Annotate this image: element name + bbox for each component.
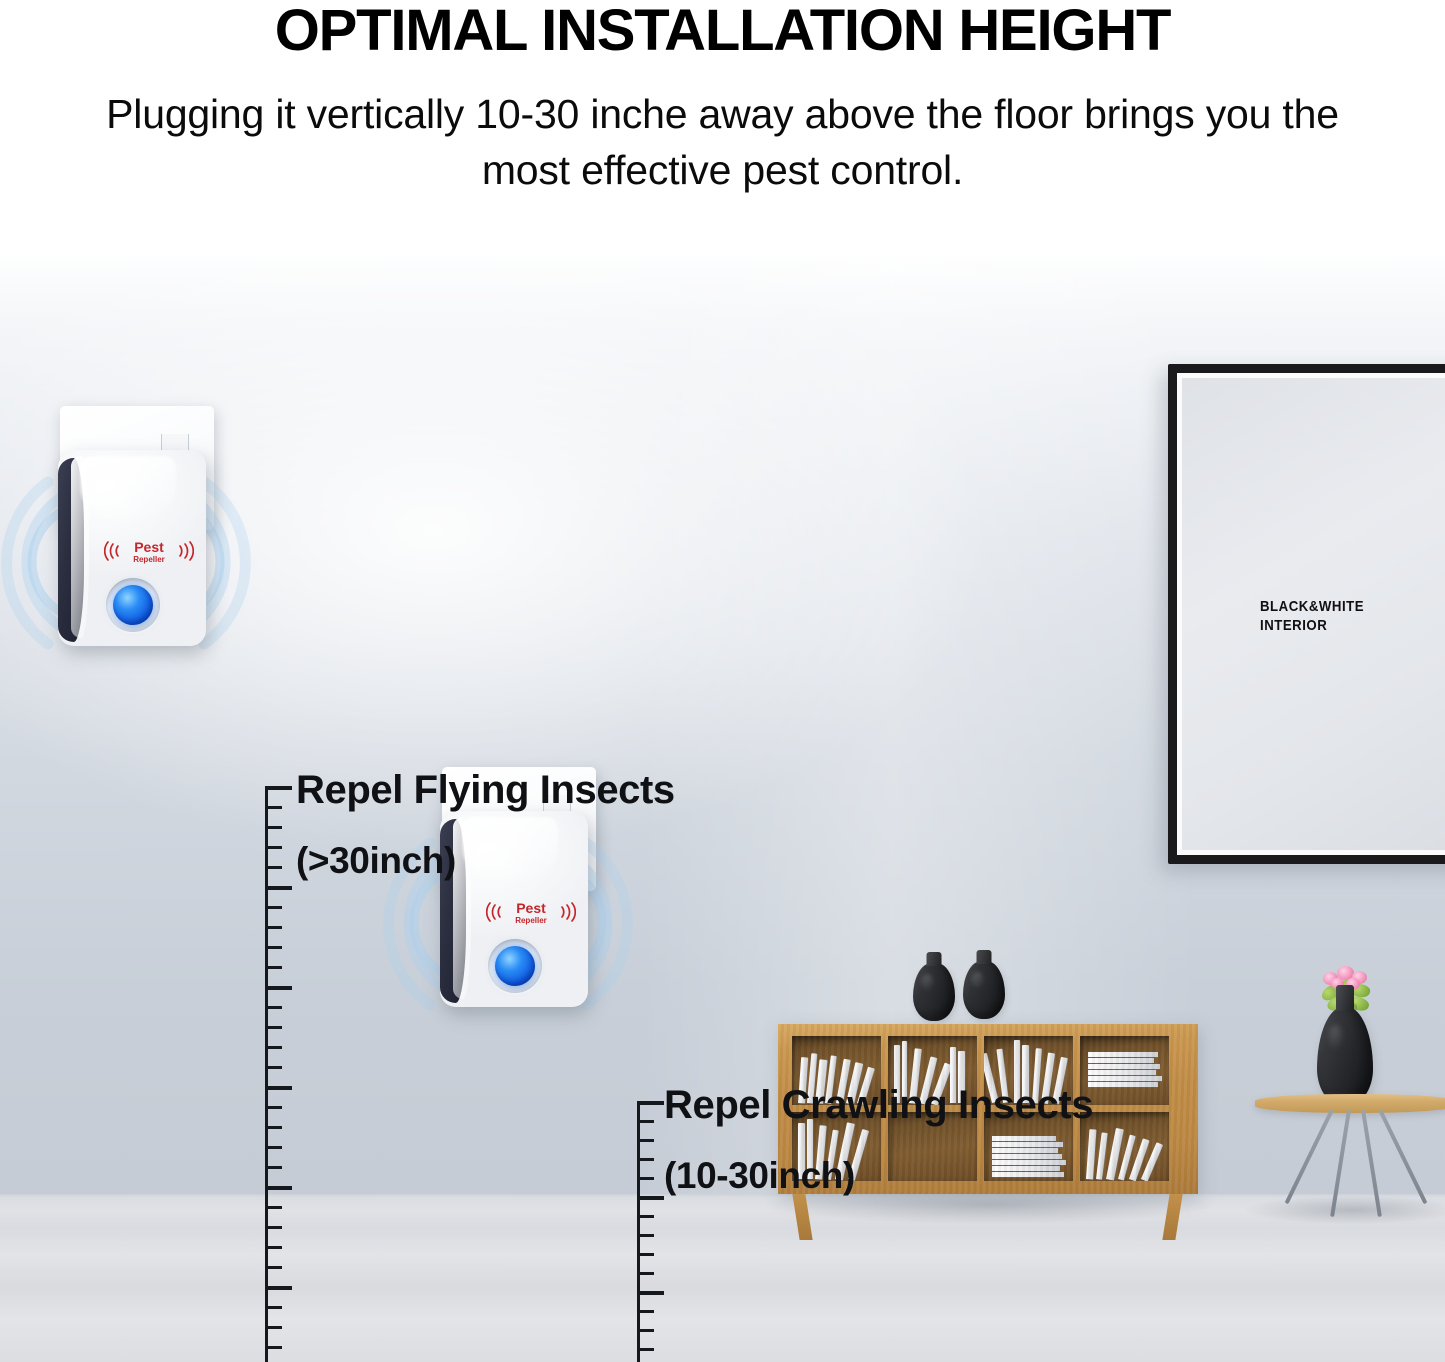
ruler-tick-minor <box>639 1253 654 1256</box>
ruler-tick-minor <box>267 1066 282 1069</box>
ruler-tick-minor <box>267 1306 282 1309</box>
side-table-leg <box>1330 1110 1351 1217</box>
shelf-cube <box>1080 1036 1169 1105</box>
callout-crawling-title: Repel Crawling Insects <box>664 1082 1093 1128</box>
ruler-spine <box>265 786 268 1362</box>
shelf-cube <box>1080 1112 1169 1181</box>
ruler-tick-major <box>267 1186 292 1190</box>
pest-repeller-logo: Pest Repeller <box>486 895 576 929</box>
shelf-vase-right <box>963 961 1005 1019</box>
ruler-tick-minor <box>267 926 282 929</box>
ruler-tick-minor <box>267 946 282 949</box>
ruler-tick-minor <box>267 1326 282 1329</box>
led-bezel <box>106 578 160 632</box>
ruler-tick-minor <box>267 1006 282 1009</box>
ruler-tick-minor <box>267 1266 282 1269</box>
ruler-tick-minor <box>267 1246 282 1249</box>
ruler-tick-minor <box>267 806 282 809</box>
ruler-tick-minor <box>267 846 282 849</box>
ruler-tick-minor <box>639 1158 654 1161</box>
ruler-tick-major <box>639 1101 664 1105</box>
led-bezel <box>488 939 542 993</box>
ruler-tick-minor <box>639 1177 654 1180</box>
ruler-tick-minor <box>267 1166 282 1169</box>
ruler-tick-minor <box>639 1234 654 1237</box>
side-table-group <box>1255 944 1445 1224</box>
callout-crawling-insects: Repel Crawling Insects (10-30inch) <box>664 1082 1093 1198</box>
shelf-vase-left <box>913 963 955 1021</box>
ruler-tick-major <box>639 1291 664 1295</box>
ruler-tick-major <box>267 986 292 990</box>
side-table-leg <box>1361 1110 1382 1217</box>
ruler-tick-minor <box>639 1139 654 1142</box>
svg-text:Pest: Pest <box>134 539 164 555</box>
side-table-leg <box>1378 1109 1427 1204</box>
frame-artwork-text: BLACK&WHITE INTERIOR <box>1260 597 1364 635</box>
ruler-tick-minor <box>267 866 282 869</box>
ruler-tick-minor <box>267 826 282 829</box>
ruler-tick-minor <box>639 1310 654 1313</box>
ruler-tick-minor <box>267 1026 282 1029</box>
ruler-tick-major <box>267 1286 292 1290</box>
page-title: OPTIMAL INSTALLATION HEIGHT <box>0 0 1445 64</box>
repeller-gloss <box>80 456 176 522</box>
ruler-tick-minor <box>639 1348 654 1351</box>
callout-crawling-range: (10-30inch) <box>664 1154 1093 1198</box>
ruler-tick-minor <box>267 966 282 969</box>
ruler-tick-major <box>267 886 292 890</box>
ruler-tick-minor <box>639 1272 654 1275</box>
room-scene: BLACK&WHITE INTERIOR <box>0 246 1445 1362</box>
ruler-tick-minor <box>267 906 282 909</box>
ruler-tick-minor <box>639 1120 654 1123</box>
floor-reflection <box>0 1194 1445 1294</box>
page-subtitle: Plugging it vertically 10-30 inche away … <box>98 86 1348 198</box>
ruler-tick-minor <box>267 1226 282 1229</box>
frame-mat: BLACK&WHITE INTERIOR <box>1177 373 1445 855</box>
side-table-leg <box>1285 1109 1334 1204</box>
ruler-tick-minor <box>267 1106 282 1109</box>
picture-frame: BLACK&WHITE INTERIOR <box>1168 364 1445 864</box>
power-led <box>113 585 153 625</box>
ruler-tick-minor <box>267 1046 282 1049</box>
ruler-tick-minor <box>639 1215 654 1218</box>
table-vase <box>1317 1007 1373 1107</box>
ruler-tick-major <box>267 786 292 790</box>
ruler-tick-major <box>639 1196 664 1200</box>
svg-text:Pest: Pest <box>516 900 546 916</box>
ruler-tick-minor <box>267 1126 282 1129</box>
ruler-tick-minor <box>639 1329 654 1332</box>
callout-flying-insects: Repel Flying Insects (>30inch) <box>296 767 675 883</box>
callout-flying-range: (>30inch) <box>296 839 675 883</box>
repeller-body: Pest Repeller <box>58 450 206 646</box>
ruler-tick-minor <box>267 1206 282 1209</box>
pest-repeller-logo: Pest Repeller <box>104 534 194 568</box>
height-ruler-flying <box>265 786 295 1362</box>
power-led <box>495 946 535 986</box>
ruler-tick-minor <box>267 1346 282 1349</box>
callout-flying-title: Repel Flying Insects <box>296 767 675 813</box>
svg-text:Repeller: Repeller <box>515 916 547 925</box>
ruler-tick-major <box>267 1086 292 1090</box>
svg-text:Repeller: Repeller <box>133 555 165 564</box>
frame-artwork: BLACK&WHITE INTERIOR <box>1182 378 1445 850</box>
ruler-tick-minor <box>267 1146 282 1149</box>
height-ruler-crawling <box>637 1101 667 1362</box>
header-banner: OPTIMAL INSTALLATION HEIGHT Plugging it … <box>0 0 1445 256</box>
